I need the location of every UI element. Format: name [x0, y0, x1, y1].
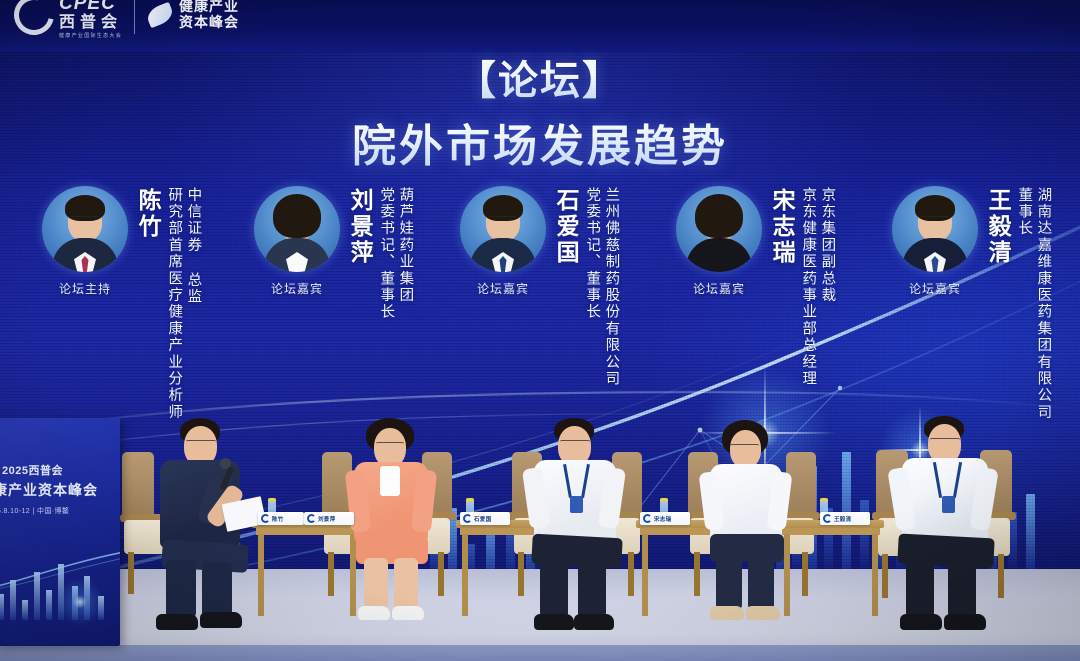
nameplate-logo-icon-4	[643, 514, 652, 523]
nameplate-text-5: 王毅清	[834, 515, 851, 523]
cpec-logo: CPEC 西普会 健康产业国际生态大会	[14, 0, 122, 39]
avatar-liu-jingping	[254, 186, 340, 272]
summit-logo-line1: 健康产业	[179, 0, 239, 15]
logo-divider	[134, 0, 135, 34]
attendee-badge-shi	[570, 496, 583, 513]
nameplate-logo-icon-5	[823, 514, 832, 523]
nameplate-logo-icon-3	[463, 514, 472, 523]
panelist-card-3: 论坛嘉宾 宋志瑞 京东集团副总裁 京东健康医药事业部总经理	[672, 186, 835, 387]
panelist-title-2-1: 党委书记、董事长	[583, 187, 600, 387]
nameplate-3: 石爱国	[460, 512, 510, 525]
panelist-card-0: 论坛主持 陈竹 中信证券 总监 研究部首席医疗健康产业分析师	[38, 186, 201, 421]
cpec-logo-sub: 健康产业国际生态大会	[59, 34, 122, 39]
avatar-song-zhirui	[676, 186, 762, 272]
header-logo-row: CPEC 西普会 健康产业国际生态大会 健康产业 资本峰会	[14, 0, 239, 39]
avatar-wang-yiqing	[892, 186, 978, 272]
panelist-card-2: 论坛嘉宾 石爱国 兰州佛慈制药股份有限公司 党委书记、董事长	[456, 186, 619, 387]
forum-title-line2: 院外市场发展趋势	[0, 110, 1080, 174]
nameplate-text-4: 宋志瑞	[654, 515, 671, 523]
panelist-titles-2: 兰州佛慈制药股份有限公司 党委书记、董事长	[581, 187, 619, 387]
panelist-name-4: 王毅清	[986, 188, 1010, 266]
person-panelist-wang	[888, 416, 1012, 636]
banner-date: 2025.8.10-12 | 中国·博鳌	[0, 506, 69, 516]
panelist-card-4: 论坛嘉宾 王毅清 湖南达嘉维康医药集团有限公司 董事长	[888, 186, 1051, 421]
forum-title-block: 【论坛】 院外市场发展趋势	[0, 48, 1080, 174]
nameplate-1: 陈竹	[258, 512, 304, 525]
panelist-role-1: 论坛嘉宾	[271, 280, 323, 297]
panelist-role-2: 论坛嘉宾	[477, 280, 529, 297]
person-panelist-shi	[520, 418, 640, 634]
nameplate-text-3: 石爱国	[474, 515, 491, 523]
panelist-name-1: 刘景萍	[348, 188, 372, 266]
leaf-mark-icon	[145, 1, 176, 27]
banner-line1: 2025西普会	[2, 462, 63, 478]
panelist-title-1-0: 葫芦娃药业集团	[396, 187, 413, 321]
panelist-title-1-1: 党委书记、董事长	[377, 187, 394, 321]
attendee-badge-wang	[942, 496, 955, 513]
conference-stage-photo: CPEC 西普会 健康产业国际生态大会 健康产业 资本峰会 【论坛】 院外市场发…	[0, 0, 1080, 661]
summit-logo: 健康产业 资本峰会	[147, 0, 239, 30]
panelist-title-3-0: 京东集团副总裁	[818, 187, 835, 387]
banner-starburst	[54, 576, 106, 628]
avatar-shi-aiguo	[460, 186, 546, 272]
nameplate-5: 王毅清	[820, 512, 870, 525]
panelist-titles-3: 京东集团副总裁 京东健康医药事业部总经理	[797, 187, 835, 387]
banner-line2: 健康产业资本峰会	[0, 480, 98, 500]
nameplate-text-2: 刘景萍	[318, 515, 335, 523]
panelist-role-4: 论坛嘉宾	[909, 280, 961, 297]
panelist-title-3-1: 京东健康医药事业部总经理	[799, 187, 816, 387]
nameplate-logo-icon-2	[307, 514, 316, 523]
cpec-logo-en: CPEC	[59, 0, 122, 13]
panelist-titles-4: 湖南达嘉维康医药集团有限公司 董事长	[1013, 187, 1051, 421]
panelist-titles-1: 葫芦娃药业集团 党委书记、董事长	[375, 187, 413, 321]
person-panelist-song	[696, 420, 804, 630]
forum-title-line1: 【论坛】	[0, 48, 1080, 106]
person-moderator	[138, 418, 278, 636]
nameplate-logo-icon-1	[261, 514, 270, 523]
panelist-card-1: 论坛嘉宾 刘景萍 葫芦娃药业集团 党委书记、董事长	[250, 186, 413, 321]
summit-logo-line2: 资本峰会	[179, 15, 239, 31]
panelist-title-0-0: 中信证券 总监	[184, 187, 201, 421]
panelist-title-2-0: 兰州佛慈制药股份有限公司	[602, 187, 619, 387]
person-panelist-liu	[340, 418, 450, 630]
nameplate-2: 刘景萍	[304, 512, 354, 525]
nameplate-4: 宋志瑞	[640, 512, 690, 525]
panelist-role-3: 论坛嘉宾	[693, 280, 745, 297]
panelist-name-3: 宋志瑞	[770, 188, 794, 266]
panelist-title-4-0: 湖南达嘉维康医药集团有限公司	[1034, 187, 1051, 421]
panelist-titles-0: 中信证券 总监 研究部首席医疗健康产业分析师	[163, 187, 201, 421]
panelist-name-2: 石爱国	[554, 188, 578, 266]
panelist-card-row: 论坛主持 陈竹 中信证券 总监 研究部首席医疗健康产业分析师 论坛嘉宾 刘景萍 …	[0, 186, 1080, 436]
panelist-name-0: 陈竹	[136, 188, 160, 240]
stage-front-edge	[0, 645, 1080, 661]
panelist-role-0: 论坛主持	[59, 280, 111, 297]
nameplate-text-1: 陈竹	[272, 515, 284, 523]
panelist-title-0-1: 研究部首席医疗健康产业分析师	[165, 187, 182, 421]
rollup-banner: 2025西普会 健康产业资本峰会 2025.8.10-12 | 中国·博鳌	[0, 418, 120, 646]
cpec-logo-cn: 西普会	[59, 15, 122, 31]
avatar-chen-zhu	[42, 186, 128, 272]
cpec-circle-mark-icon	[6, 0, 61, 42]
panelist-title-4-1: 董事长	[1015, 187, 1032, 421]
